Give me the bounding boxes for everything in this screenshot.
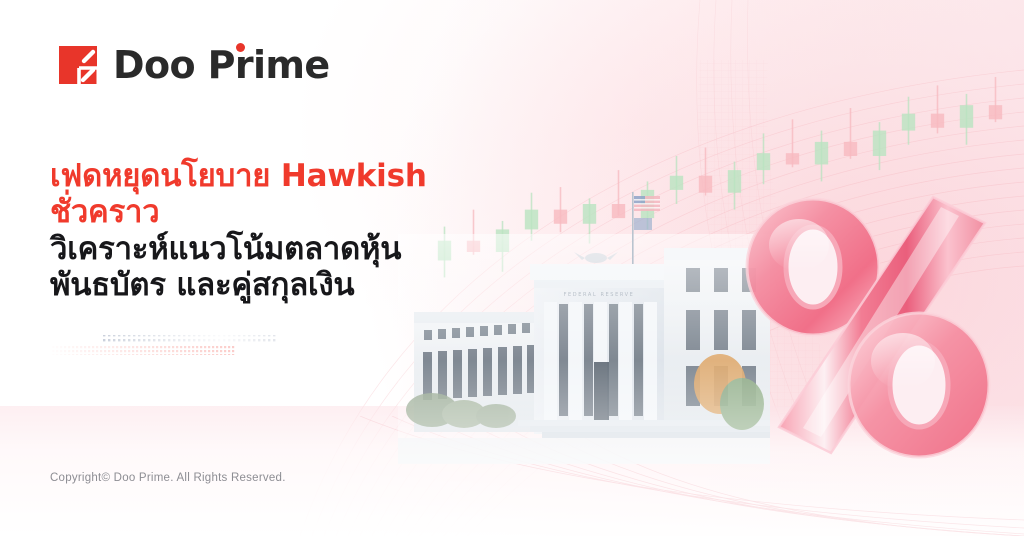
us-flag [624,188,670,264]
doo-prime-logo-mark-icon [57,44,99,86]
headline-line-4: พันธบัตร และคู่สกุลเงิน [50,267,520,303]
headline-line-1: เฟดหยุดนโยบาย Hawkish [50,158,520,194]
copyright-text: Copyright© Doo Prime. All Rights Reserve… [50,472,286,484]
headline-line-3: วิเคราะห์แนวโน้มตลาดหุ้น [50,231,520,267]
brand-logo[interactable]: Doo Prime [57,44,330,86]
headline-line-2: ชั่วคราว [50,194,520,230]
percent-symbol-3d [735,185,1005,460]
headline: เฟดหยุดนโยบาย Hawkish ชั่วคราว วิเคราะห์… [50,158,520,303]
promo-banner: FEDERAL RESERVE [0,0,1024,536]
brand-logo-label: Doo Prime [113,43,330,87]
logo-i-dot-icon [236,43,245,52]
halftone-divider [48,334,288,358]
brand-logo-text: Doo Prime [113,46,330,84]
